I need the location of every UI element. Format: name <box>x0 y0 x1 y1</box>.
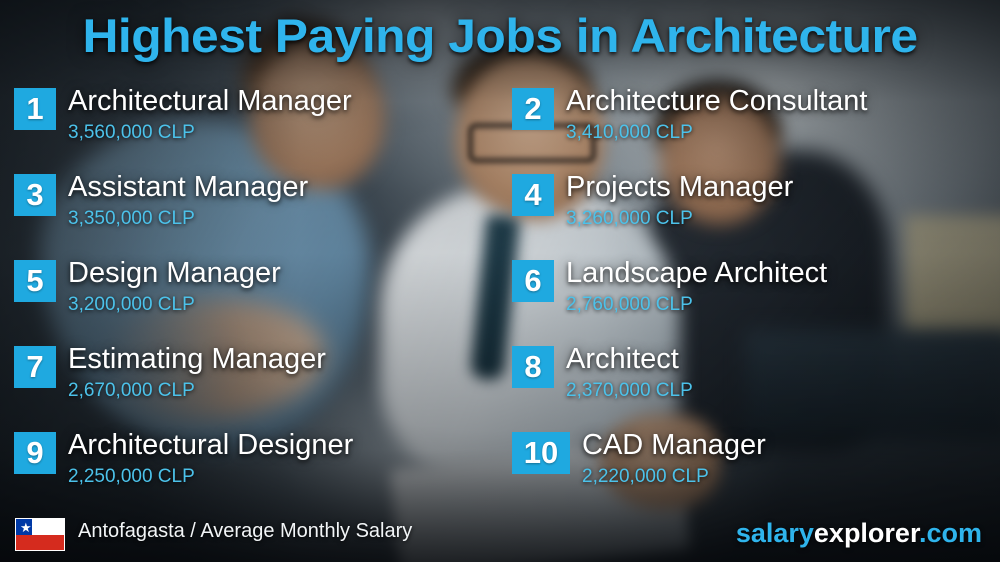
job-title: Architectural Manager <box>68 82 352 120</box>
footer-caption: Antofagasta / Average Monthly Salary <box>78 520 412 543</box>
list-item-text: Projects Manager 3,260,000 CLP <box>566 168 793 232</box>
list-item-text: Architecture Consultant 3,410,000 CLP <box>566 82 867 146</box>
brand-part-com: .com <box>919 518 982 548</box>
list-item: 4 Projects Manager 3,260,000 CLP <box>512 172 982 246</box>
rank-badge: 5 <box>14 260 56 302</box>
rank-badge: 7 <box>14 346 56 388</box>
list-item-text: Design Manager 3,200,000 CLP <box>68 254 281 318</box>
list-item: 5 Design Manager 3,200,000 CLP <box>14 258 484 332</box>
list-item-text: Architect 2,370,000 CLP <box>566 340 693 404</box>
rank-badge: 4 <box>512 174 554 216</box>
job-title: Architect <box>566 340 693 378</box>
list-item: 1 Architectural Manager 3,560,000 CLP <box>14 86 484 160</box>
list-item: 10 CAD Manager 2,220,000 CLP <box>512 430 982 504</box>
job-title: Assistant Manager <box>68 168 308 206</box>
rank-badge: 9 <box>14 432 56 474</box>
list-item: 2 Architecture Consultant 3,410,000 CLP <box>512 86 982 160</box>
job-salary: 2,250,000 CLP <box>68 464 353 490</box>
job-salary: 3,200,000 CLP <box>68 292 281 318</box>
flag-red-band <box>16 535 64 551</box>
job-salary: 3,350,000 CLP <box>68 206 308 232</box>
job-salary: 2,220,000 CLP <box>582 464 766 490</box>
list-item-text: Architectural Manager 3,560,000 CLP <box>68 82 352 146</box>
job-title: Landscape Architect <box>566 254 827 292</box>
job-salary: 2,760,000 CLP <box>566 292 827 318</box>
job-salary: 3,560,000 CLP <box>68 120 352 146</box>
rank-badge: 3 <box>14 174 56 216</box>
list-item-text: Estimating Manager 2,670,000 CLP <box>68 340 326 404</box>
job-title: Design Manager <box>68 254 281 292</box>
rank-badge: 2 <box>512 88 554 130</box>
brand-part-salary: salary <box>736 518 814 548</box>
footer: Antofagasta / Average Monthly Salary sal… <box>0 506 1000 562</box>
brand-logo[interactable]: salaryexplorer.com <box>736 518 982 549</box>
chile-flag-icon <box>15 518 65 551</box>
poster-content: Highest Paying Jobs in Architecture 1 Ar… <box>0 0 1000 562</box>
infographic-poster: Highest Paying Jobs in Architecture 1 Ar… <box>0 0 1000 562</box>
job-title: Architectural Designer <box>68 426 353 464</box>
job-salary: 2,370,000 CLP <box>566 378 693 404</box>
list-item: 9 Architectural Designer 2,250,000 CLP <box>14 430 484 504</box>
rank-badge: 8 <box>512 346 554 388</box>
job-title: Estimating Manager <box>68 340 326 378</box>
list-item: 3 Assistant Manager 3,350,000 CLP <box>14 172 484 246</box>
list-item: 8 Architect 2,370,000 CLP <box>512 344 982 418</box>
job-title: CAD Manager <box>582 426 766 464</box>
rank-badge: 10 <box>512 432 570 474</box>
list-item-text: CAD Manager 2,220,000 CLP <box>582 426 766 490</box>
job-title: Architecture Consultant <box>566 82 867 120</box>
list-item-text: Assistant Manager 3,350,000 CLP <box>68 168 308 232</box>
list-item-text: Architectural Designer 2,250,000 CLP <box>68 426 353 490</box>
brand-part-explorer: explorer <box>814 518 919 548</box>
job-salary: 3,410,000 CLP <box>566 120 867 146</box>
job-salary: 3,260,000 CLP <box>566 206 793 232</box>
job-title: Projects Manager <box>566 168 793 206</box>
rank-badge: 6 <box>512 260 554 302</box>
list-item: 7 Estimating Manager 2,670,000 CLP <box>14 344 484 418</box>
list-item-text: Landscape Architect 2,760,000 CLP <box>566 254 827 318</box>
list-item: 6 Landscape Architect 2,760,000 CLP <box>512 258 982 332</box>
job-salary: 2,670,000 CLP <box>68 378 326 404</box>
page-title: Highest Paying Jobs in Architecture <box>0 8 1000 63</box>
rank-badge: 1 <box>14 88 56 130</box>
